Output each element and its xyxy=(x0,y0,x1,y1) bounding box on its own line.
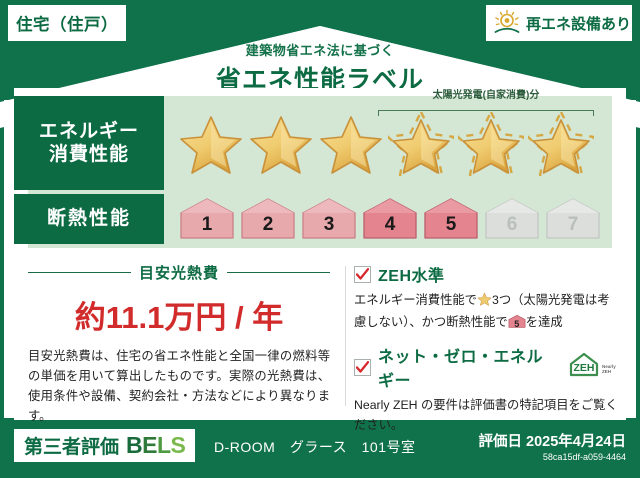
insulation-performance-value: 1 2 3 xyxy=(164,194,598,244)
check-icon xyxy=(356,268,369,281)
zeh-standard-title: ZEH水準 xyxy=(378,262,445,286)
insulation-grade-badge-value: 5 xyxy=(508,317,526,331)
evaluation-date: 評価日 2025年4月24日 xyxy=(479,430,626,451)
house-type-badge-label: 住宅（住戸） xyxy=(16,11,118,35)
insulation-performance-label: 断熱性能 xyxy=(14,194,164,244)
bels-energy-label: 住宅（住戸） 再エネ設備あり 建築物省エネ法に基づく 省エネ性能ラベル xyxy=(0,0,640,478)
renewable-badge-label: 再エネ設備あり xyxy=(526,13,631,34)
energy-performance-row: エネルギー 消費性能 太陽光発電(自家消費)分 xyxy=(14,96,598,190)
insulation-grade-scale: 1 2 3 xyxy=(178,197,602,241)
zeh-standard-desc: エネルギー消費性能で 3つ（太陽光発電は考慮しない）、かつ断熱性能で 5を達成 xyxy=(354,291,618,332)
insulation-grade-6: 6 xyxy=(483,197,541,241)
zeh-column: ZEH水準 エネルギー消費性能で 3つ（太陽光発電は考慮しない）、かつ断熱性能で… xyxy=(344,260,626,418)
zeh-nearly-logo: ZEH Nearly ZEH xyxy=(568,352,618,383)
insulation-grade-badge: 5 xyxy=(508,314,526,329)
star-icon-solar xyxy=(528,112,594,176)
energy-star-rating xyxy=(178,112,594,176)
check-icon xyxy=(356,361,369,374)
label-lower-section: 目安光熱費 約11.1万円 / 年 目安光熱費は、住宅の省エネ性能と全国一律の燃… xyxy=(14,260,626,418)
solar-bracket-label: 太陽光発電(自家消費)分 xyxy=(378,86,594,101)
bels-logo: 第三者評価 BELS xyxy=(14,429,195,462)
star-icon xyxy=(477,292,492,313)
net-zero-energy-title: ネット・ゼロ・エネルギー xyxy=(378,343,559,391)
utility-cost-heading: 目安光熱費 xyxy=(28,262,330,283)
utility-cost-value: 約11.1万円 / 年 xyxy=(28,292,330,337)
insulation-grade-value: 2 xyxy=(239,214,297,236)
bels-logo-en: BELS xyxy=(126,432,185,459)
insulation-grade-value: 3 xyxy=(300,214,358,236)
property-name: D-ROOM グラース 101号室 xyxy=(214,437,415,457)
energy-performance-value: 太陽光発電(自家消費)分 xyxy=(164,96,598,190)
insulation-performance-row: 断熱性能 1 2 xyxy=(14,194,598,244)
rule-right xyxy=(227,272,330,273)
insulation-grade-value: 5 xyxy=(422,214,480,236)
insulation-grade-value: 6 xyxy=(483,214,541,236)
star-icon-solar xyxy=(458,112,524,176)
rule-left xyxy=(28,272,131,273)
insulation-grade-2: 2 xyxy=(239,197,297,241)
energy-performance-label: エネルギー 消費性能 xyxy=(14,96,164,190)
utility-cost-column: 目安光熱費 約11.1万円 / 年 目安光熱費は、住宅の省エネ性能と全国一律の燃… xyxy=(14,260,344,418)
star-icon xyxy=(318,112,384,176)
insulation-grade-5: 5 xyxy=(422,197,480,241)
net-zero-energy-heading: ネット・ゼロ・エネルギー ZEH Nearly ZEH xyxy=(354,343,618,391)
star-icon-solar xyxy=(388,112,454,176)
label-footer: 第三者評価 BELS D-ROOM グラース 101号室 評価日 2025年4月… xyxy=(0,420,640,478)
label-content-card: エネルギー 消費性能 太陽光発電(自家消費)分 xyxy=(14,88,626,420)
zeh-standard-item: ZEH水準 エネルギー消費性能で 3つ（太陽光発電は考慮しない）、かつ断熱性能で… xyxy=(354,262,618,332)
insulation-grade-value: 4 xyxy=(361,214,419,236)
net-zero-energy-checkbox[interactable] xyxy=(354,359,371,376)
zeh-desc-post: を達成 xyxy=(526,315,563,329)
utility-cost-note: 目安光熱費は、住宅の省エネ性能と全国一律の燃料等の単価を用いて算出したものです。… xyxy=(28,347,330,427)
insulation-grade-7: 7 xyxy=(544,197,602,241)
insulation-grade-1: 1 xyxy=(178,197,236,241)
label-title-sub: 建築物省エネ法に基づく xyxy=(0,40,640,59)
house-type-badge: 住宅（住戸） xyxy=(8,5,126,41)
zeh-standard-heading: ZEH水準 xyxy=(354,262,618,286)
solar-sun-icon xyxy=(492,9,522,37)
star-icon xyxy=(178,112,244,176)
utility-cost-heading-label: 目安光熱費 xyxy=(139,262,219,283)
insulation-grade-value: 7 xyxy=(544,214,602,236)
insulation-grade-3: 3 xyxy=(300,197,358,241)
star-icon xyxy=(248,112,314,176)
evaluation-date-block: 評価日 2025年4月24日 58ca15df-a059-4464 xyxy=(479,430,626,462)
renewable-equipment-badge: 再エネ設備あり xyxy=(486,5,632,41)
insulation-grade-4: 4 xyxy=(361,197,419,241)
evaluation-id: 58ca15df-a059-4464 xyxy=(479,452,626,462)
svg-text:ZEH: ZEH xyxy=(602,369,611,374)
bels-logo-jp: 第三者評価 xyxy=(24,432,119,459)
zeh-desc-pre: エネルギー消費性能で xyxy=(354,293,477,307)
zeh-standard-checkbox[interactable] xyxy=(354,266,371,283)
insulation-grade-value: 1 xyxy=(178,214,236,236)
svg-text:ZEH: ZEH xyxy=(574,362,595,374)
